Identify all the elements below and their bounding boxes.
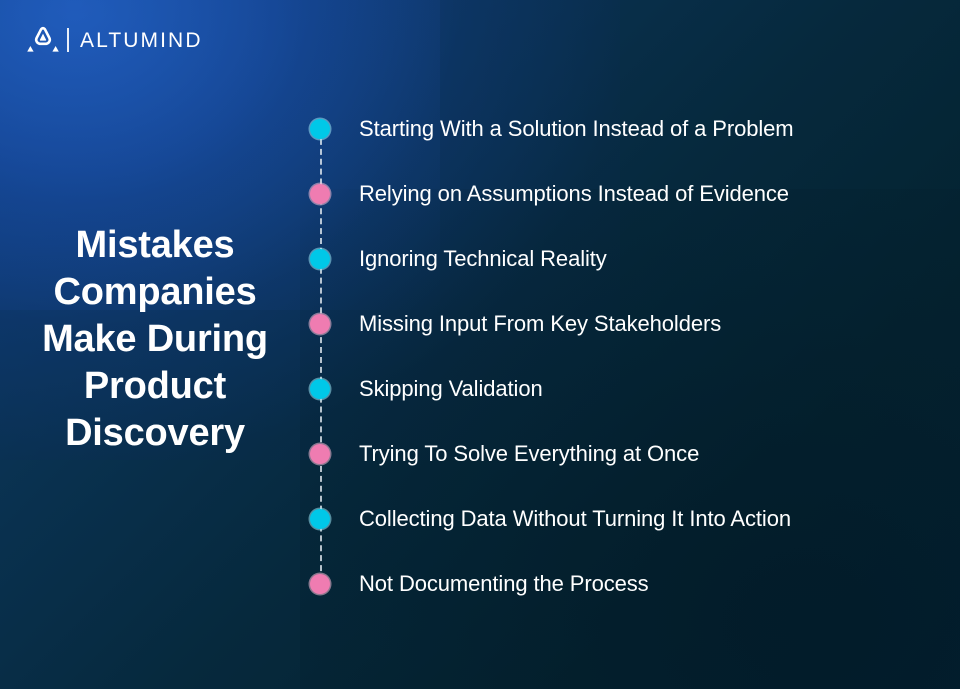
list-item: Not Documenting the Process — [310, 561, 930, 626]
page-title: Mistakes Companies Make During Product D… — [26, 222, 284, 457]
timeline-dot-icon — [310, 509, 330, 529]
slide-canvas: ALTUMIND Mistakes Companies Make During … — [0, 0, 960, 689]
timeline-dot-icon — [310, 314, 330, 334]
timeline-list: Starting With a Solution Instead of a Pr… — [310, 106, 930, 626]
timeline-dot-icon — [310, 444, 330, 464]
list-item: Relying on Assumptions Instead of Eviden… — [310, 171, 930, 236]
timeline-dot-icon — [310, 574, 330, 594]
list-item-label: Ignoring Technical Reality — [359, 244, 607, 274]
list-item-label: Trying To Solve Everything at Once — [359, 439, 699, 469]
list-item: Ignoring Technical Reality — [310, 236, 930, 301]
list-item: Collecting Data Without Turning It Into … — [310, 496, 930, 561]
brand-divider — [67, 28, 69, 52]
list-item: Trying To Solve Everything at Once — [310, 431, 930, 496]
list-item-label: Collecting Data Without Turning It Into … — [359, 504, 791, 534]
list-item-label: Not Documenting the Process — [359, 569, 649, 599]
timeline-dot-icon — [310, 379, 330, 399]
list-item-label: Relying on Assumptions Instead of Eviden… — [359, 179, 789, 209]
brand-lockup: ALTUMIND — [26, 24, 203, 56]
list-item-label: Skipping Validation — [359, 374, 543, 404]
altumind-logo-icon — [26, 25, 60, 55]
list-item: Missing Input From Key Stakeholders — [310, 301, 930, 366]
timeline-dot-icon — [310, 119, 330, 139]
timeline-dot-icon — [310, 184, 330, 204]
list-item: Skipping Validation — [310, 366, 930, 431]
list-item-label: Missing Input From Key Stakeholders — [359, 309, 721, 339]
timeline-dot-icon — [310, 249, 330, 269]
brand-wordmark: ALTUMIND — [80, 30, 203, 51]
list-item: Starting With a Solution Instead of a Pr… — [310, 106, 930, 171]
list-item-label: Starting With a Solution Instead of a Pr… — [359, 114, 794, 144]
